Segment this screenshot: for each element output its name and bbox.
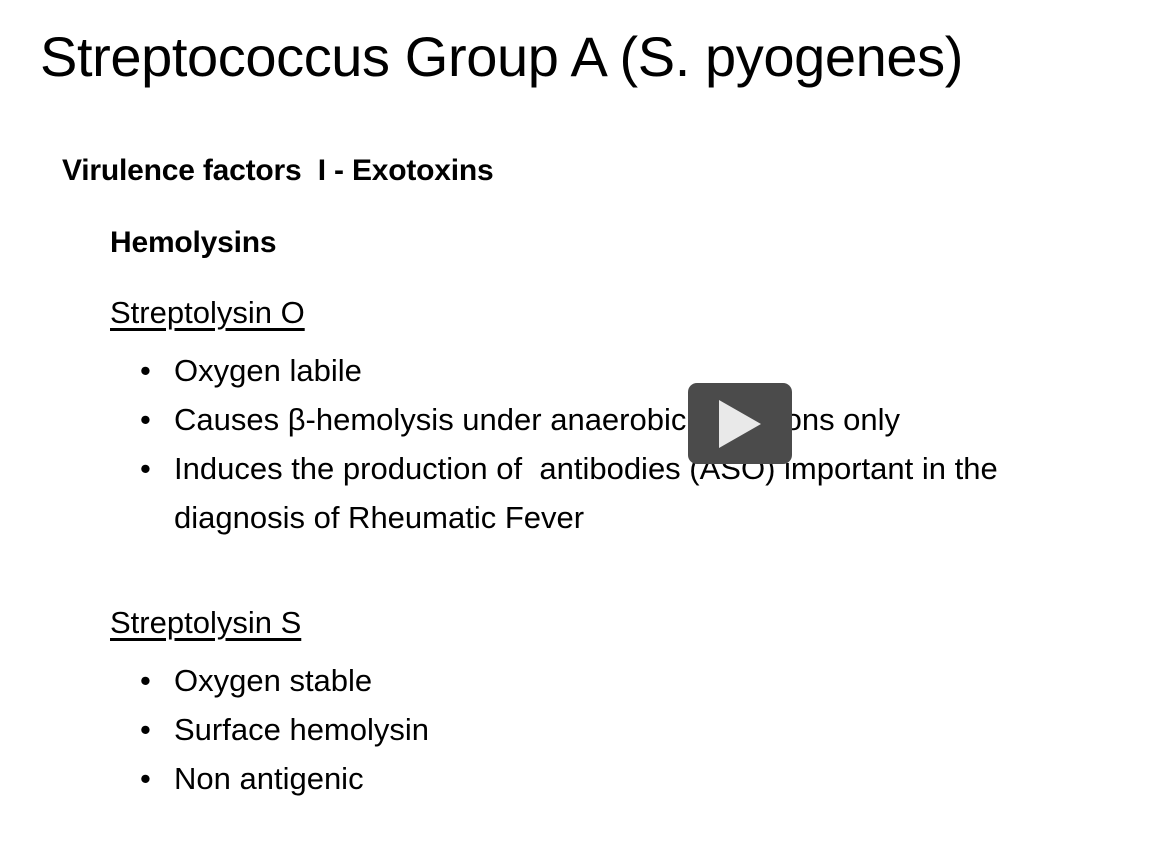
- list-item: •Oxygen stable: [0, 656, 1160, 705]
- bullet-icon: •: [140, 656, 151, 705]
- play-button[interactable]: [688, 383, 792, 464]
- bullet-list-streptolysin-s: •Oxygen stable •Surface hemolysin •Non a…: [0, 644, 1160, 803]
- bullet-icon: •: [140, 346, 151, 395]
- bullet-list-streptolysin-o: •Oxygen labile •Causes β-hemolysis under…: [0, 334, 1160, 542]
- list-item: •Non antigenic: [0, 754, 1160, 803]
- list-item-text: Oxygen stable: [174, 663, 372, 698]
- play-icon: [717, 399, 763, 449]
- slide-body: Virulence factors I - Exotoxins Hemolysi…: [0, 150, 1160, 803]
- list-item-text: Induces the production of antibodies (AS…: [174, 451, 1006, 535]
- list-item-text: Oxygen labile: [174, 353, 362, 388]
- bullet-icon: •: [140, 444, 151, 493]
- list-item-text: Surface hemolysin: [174, 712, 429, 747]
- bullet-icon: •: [140, 395, 151, 444]
- list-item-text: Non antigenic: [174, 761, 364, 796]
- subheading-streptolysin-o: Streptolysin O: [0, 264, 1160, 334]
- list-item: •Induces the production of antibodies (A…: [0, 444, 1160, 542]
- slide-canvas: Streptococcus Group A (S. pyogenes) Viru…: [0, 0, 1160, 862]
- page-title: Streptococcus Group A (S. pyogenes): [40, 20, 963, 94]
- list-item: •Causes β-hemolysis under anaerobic cond…: [0, 395, 1160, 444]
- list-item: •Surface hemolysin: [0, 705, 1160, 754]
- section-heading-hemolysins: Hemolysins: [0, 192, 1160, 264]
- subheading-streptolysin-s-label: Streptolysin S: [110, 605, 301, 640]
- bullet-icon: •: [140, 705, 151, 754]
- subheading-streptolysin-s: Streptolysin S: [0, 542, 1160, 644]
- bullet-icon: •: [140, 754, 151, 803]
- subheading-streptolysin-o-label: Streptolysin O: [110, 295, 305, 330]
- section-heading-virulence-factors: Virulence factors I - Exotoxins: [0, 150, 1160, 192]
- list-item: •Oxygen labile: [0, 346, 1160, 395]
